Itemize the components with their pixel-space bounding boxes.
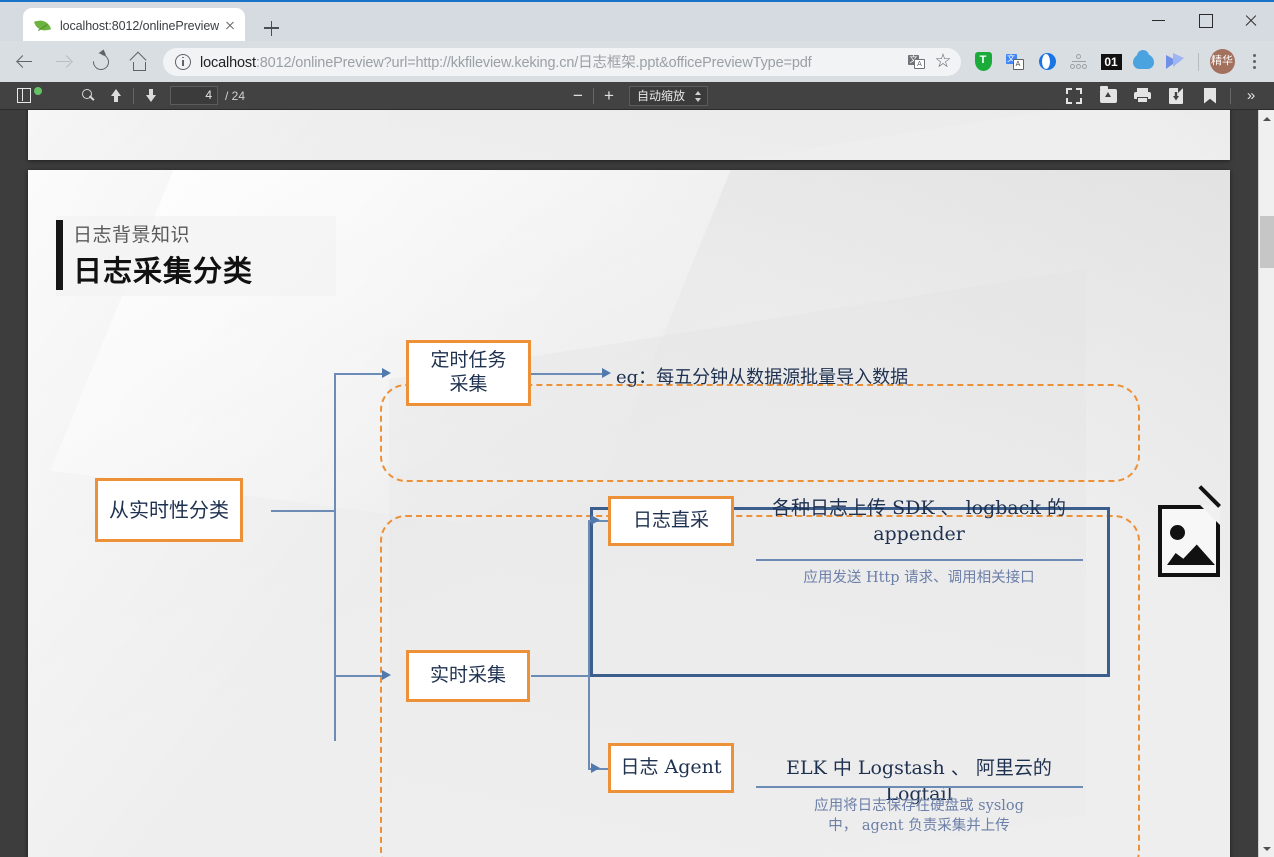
url-host: localhost — [200, 55, 256, 71]
shield-glyph: T — [975, 52, 992, 71]
connector-realtime-vertical — [588, 520, 590, 768]
zero-one-glyph: 01 — [1101, 54, 1122, 70]
note-direct-line1: 各种日志上传 SDK 、 logback 的 — [754, 496, 1084, 522]
connector-root-vertical — [334, 373, 336, 741]
pdf-toolbar-zoom-group: − + 自动缩放 — [566, 86, 708, 106]
pdf-toolbar-left: 4 / 24 — [0, 84, 245, 108]
minimize-button[interactable] — [1136, 4, 1182, 36]
forward-button[interactable] — [48, 47, 78, 77]
arrowhead-scheduled — [382, 368, 391, 378]
box-scheduled-line2: 采集 — [449, 373, 487, 397]
browser-navbar: localhost:8012/onlinePreview?url=http://… — [0, 41, 1274, 82]
scrollbar-thumb[interactable] — [1260, 216, 1274, 268]
forward-arrow-icon — [56, 55, 70, 69]
browser-window: localhost:8012/onlinePreview? localhost:… — [0, 0, 1274, 857]
new-badge-dot — [34, 87, 42, 95]
connector-to-scheduled — [334, 373, 384, 375]
bookmark-icon — [1204, 88, 1216, 104]
pdf-toolbar-right: » — [1057, 84, 1268, 108]
window-controls — [1136, 4, 1274, 36]
scroll-up-button[interactable] — [1259, 110, 1274, 127]
omnibox-actions: 文 A ☆ — [906, 51, 957, 73]
download-icon — [1169, 88, 1183, 104]
open-file-icon — [1100, 89, 1117, 103]
arrowhead-agent — [591, 763, 600, 773]
new-tab-button[interactable] — [258, 15, 284, 41]
zero-one-extension-icon[interactable]: 01 — [1095, 47, 1127, 77]
box-classify-by-realtime: 从实时性分类 — [95, 478, 243, 542]
note-scheduled-example: eg：每五分钟从数据源批量导入数据 — [616, 363, 908, 389]
toolbar-divider — [593, 88, 594, 104]
toolbar-divider — [1198, 53, 1199, 71]
google-translate-extension-icon[interactable]: 文 A — [999, 47, 1031, 77]
slide-background — [28, 110, 1230, 160]
reload-button[interactable] — [86, 47, 116, 77]
arrowhead-direct — [591, 515, 600, 525]
note-direct-sub: 应用发送 Http 请求、调用相关接口 — [754, 568, 1084, 588]
broken-image-placeholder-icon — [1158, 505, 1220, 577]
reload-icon — [90, 50, 113, 73]
vertical-scrollbar[interactable] — [1258, 110, 1274, 857]
underline-agent-note — [756, 786, 1083, 788]
print-icon — [1134, 88, 1151, 103]
search-icon — [82, 89, 95, 102]
connector-root-horizontal — [271, 510, 336, 512]
zoom-in-button[interactable]: + — [597, 86, 621, 106]
download-button[interactable] — [1159, 84, 1193, 108]
arrow-up-icon — [111, 89, 122, 102]
scroll-down-button[interactable] — [1259, 840, 1274, 857]
url-text: localhost:8012/onlinePreview?url=http://… — [200, 51, 906, 72]
opera-circle-extension-icon[interactable] — [1031, 47, 1063, 77]
pdf-viewer-toolbar: 4 / 24 − + 自动缩放 » — [0, 82, 1274, 110]
translate-page-icon[interactable]: 文 A — [906, 52, 928, 72]
note-agent-sub: 应用将日志保存在硬盘或 syslog 中， agent 负责采集并上传 — [754, 796, 1084, 837]
address-bar[interactable]: localhost:8012/onlinePreview?url=http://… — [163, 48, 961, 76]
arrowhead-scheduled-note — [602, 368, 611, 378]
page-total-label: / 24 — [225, 89, 245, 103]
box-log-agent: 日志 Agent — [608, 743, 734, 793]
cloud-extension-icon[interactable] — [1127, 47, 1159, 77]
bookmark-star-icon[interactable]: ☆ — [932, 51, 954, 73]
more-tools-button[interactable]: » — [1234, 84, 1268, 108]
print-button[interactable] — [1125, 84, 1159, 108]
kebab-menu-icon — [1241, 49, 1267, 75]
presentation-mode-button[interactable] — [1057, 84, 1091, 108]
zoom-level-value: 自动缩放 — [637, 87, 685, 105]
pdf-page-previous — [28, 110, 1230, 160]
chrome-menu-button[interactable] — [1238, 47, 1270, 77]
note-direct-line2: appender — [754, 522, 1084, 548]
box-scheduled-collection: 定时任务 采集 — [406, 340, 531, 406]
back-arrow-icon — [18, 55, 32, 69]
chevron-updown-icon — [695, 90, 702, 103]
box-realtime-collection: 实时采集 — [406, 650, 530, 702]
spring-leaf-icon — [34, 17, 51, 34]
bird-extension-icon[interactable] — [1159, 47, 1191, 77]
close-window-button[interactable] — [1228, 4, 1274, 36]
connector-realtime-horizontal — [531, 675, 589, 677]
pdf-page-current: 日志背景知识 日志采集分类 — [28, 170, 1230, 857]
slide-title: 日志采集分类 — [73, 248, 253, 290]
gtrans-glyph-b: A — [1013, 59, 1024, 70]
note-agent-sub-line2: 中， agent 负责采集并上传 — [754, 816, 1084, 836]
open-file-button[interactable] — [1091, 84, 1125, 108]
bookmark-button[interactable] — [1193, 84, 1227, 108]
toolbar-divider — [1230, 88, 1231, 104]
chevron-right-double-icon: » — [1247, 86, 1255, 106]
shield-extension-icon[interactable]: T — [967, 47, 999, 77]
browser-tab[interactable]: localhost:8012/onlinePreview? — [23, 8, 245, 43]
home-button[interactable] — [124, 47, 154, 77]
back-button[interactable] — [10, 47, 40, 77]
zoom-out-button[interactable]: − — [566, 86, 590, 106]
box-scheduled-line1: 定时任务 — [430, 349, 506, 373]
avatar-label: 精华 — [1210, 49, 1235, 74]
translate-icon-glyph-b: A — [914, 59, 925, 69]
note-agent-sub-line1: 应用将日志保存在硬盘或 syslog — [754, 796, 1084, 816]
pdf-viewport[interactable]: 日志背景知识 日志采集分类 — [0, 110, 1258, 857]
home-icon — [130, 54, 147, 70]
page-number-input[interactable]: 4 — [170, 86, 218, 105]
find-button[interactable] — [74, 84, 102, 108]
connector-to-realtime — [334, 675, 384, 677]
site-info-icon[interactable] — [175, 54, 191, 70]
arrow-down-icon — [146, 89, 157, 102]
title-accent-bar — [56, 220, 63, 290]
box-direct-log-collection: 日志直采 — [608, 496, 734, 546]
next-page-button[interactable] — [137, 84, 165, 108]
maximize-button[interactable] — [1182, 4, 1228, 36]
underline-direct-note — [756, 559, 1083, 561]
profile-avatar[interactable]: 精华 — [1206, 47, 1238, 77]
connector-scheduled-to-note — [531, 373, 604, 375]
zoom-level-select[interactable]: 自动缩放 — [629, 86, 708, 106]
toolbar-divider — [133, 88, 134, 104]
extensions-toolbar: T 文 A 01 精华 — [967, 47, 1274, 77]
previous-page-button[interactable] — [102, 84, 130, 108]
close-tab-icon[interactable] — [221, 17, 239, 35]
browser-titlebar: localhost:8012/onlinePreview? — [0, 0, 1274, 41]
sidebar-toggle-icon — [17, 88, 31, 103]
slide-subtitle: 日志背景知识 — [73, 220, 190, 247]
note-direct-main: 各种日志上传 SDK 、 logback 的 appender — [754, 496, 1084, 547]
fullscreen-icon — [1066, 88, 1082, 104]
sidebar-toggle-button[interactable] — [10, 84, 38, 108]
arrowhead-realtime — [382, 670, 391, 680]
tab-title: localhost:8012/onlinePreview? — [60, 19, 219, 33]
url-path: :8012/onlinePreview?url=http://kkfilevie… — [256, 55, 812, 71]
tree-diagram-extension-icon[interactable] — [1063, 47, 1095, 77]
